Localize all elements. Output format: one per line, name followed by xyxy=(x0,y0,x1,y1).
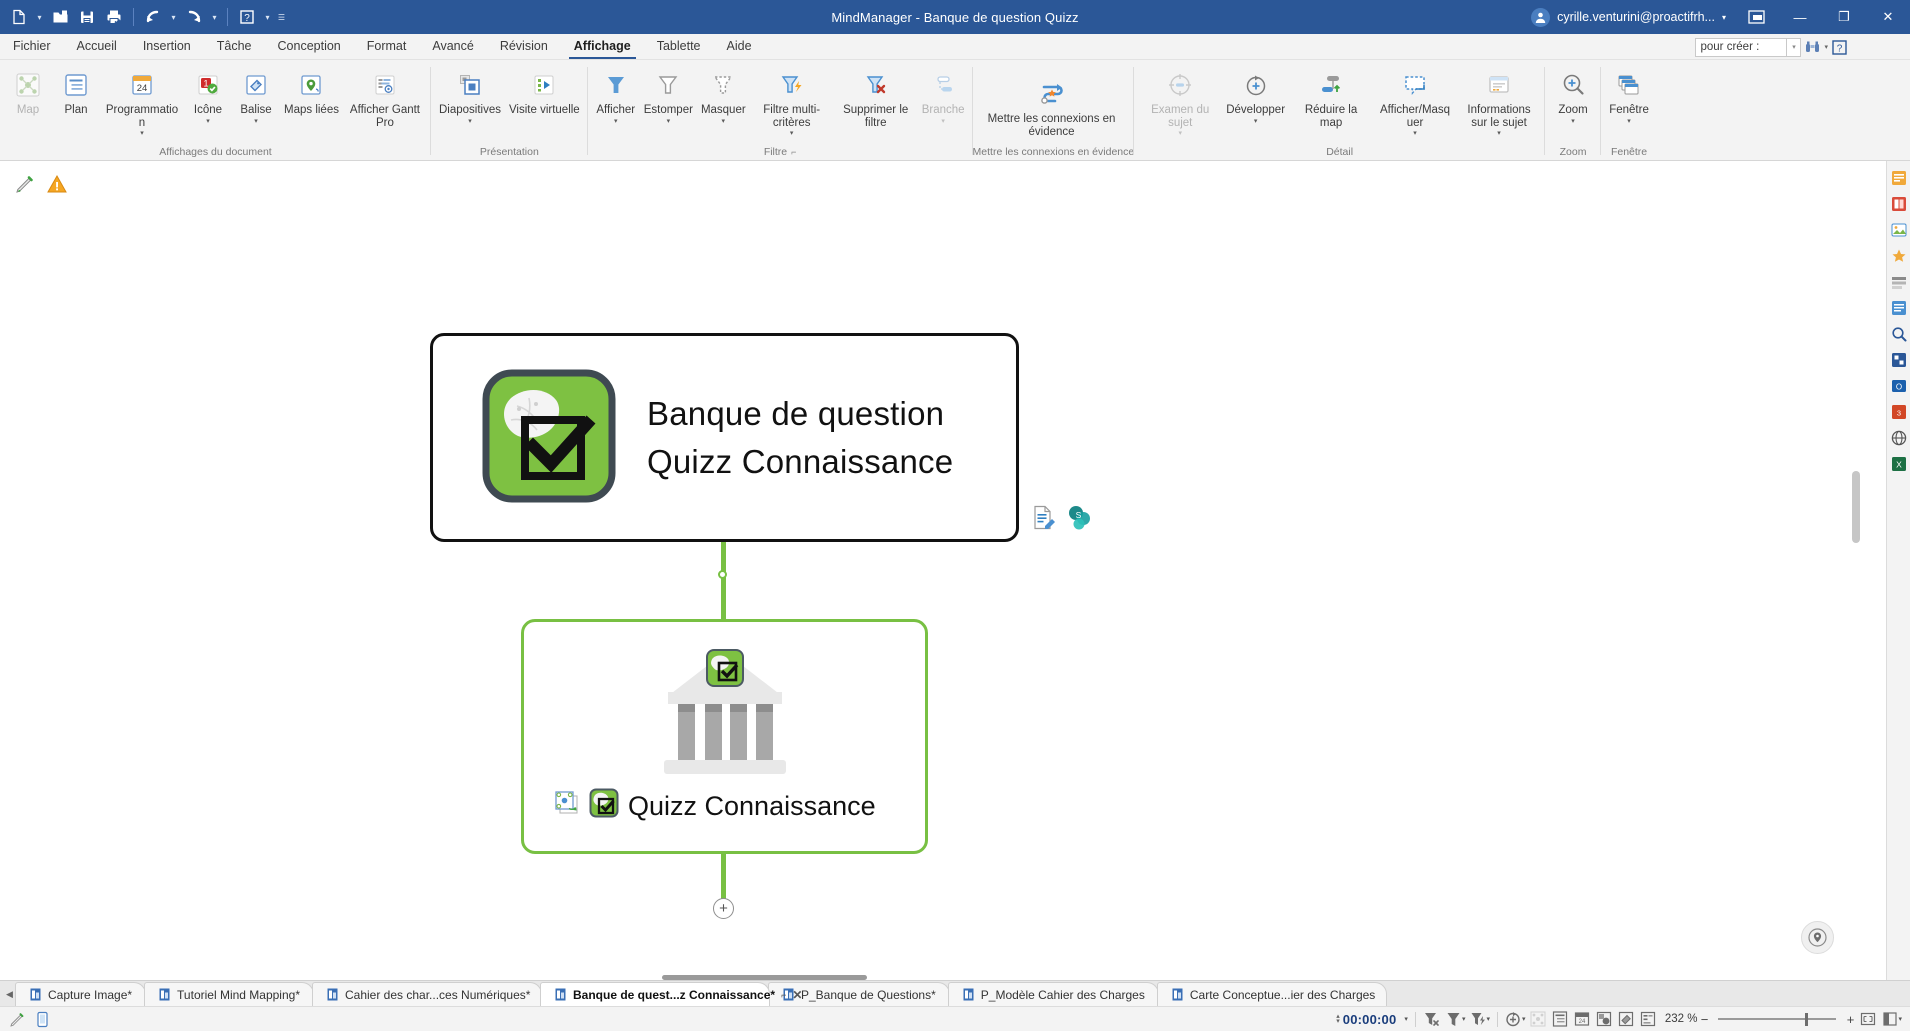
document-icon xyxy=(962,987,975,1002)
root-topic[interactable]: Banque de question Quizz Connaissance xyxy=(430,333,1019,542)
icon-marker-icon: 1 xyxy=(194,68,222,102)
ribbon-button-examen-du-sujet[interactable]: Examen du sujet ▾ xyxy=(1138,65,1222,139)
tab-revision[interactable]: Révision xyxy=(487,33,561,59)
outline-view-icon xyxy=(62,68,90,102)
ribbon-button-zoom-label: Zoom xyxy=(1558,104,1587,117)
root-topic-attachments: S xyxy=(1030,504,1093,534)
filter-status-caret-icon[interactable]: ▾ xyxy=(1462,1015,1466,1023)
tab-insertion[interactable]: Insertion xyxy=(130,33,204,59)
child-topic-quizz-connaissance[interactable]: Quizz Connaissance xyxy=(521,619,928,854)
tab-tache[interactable]: Tâche xyxy=(204,33,265,59)
document-icon xyxy=(158,987,171,1002)
ribbon-button-fenetre-label: Fenêtre xyxy=(1609,104,1649,117)
ribbon-button-maps-liees-label: Maps liées xyxy=(284,104,339,117)
ribbon-button-mettre-les-connexions-label: Mettre les connexions en évidence xyxy=(981,113,1123,138)
ribbon-group-label-fenetre: Fenêtre xyxy=(1601,144,1657,160)
collapse-map-icon xyxy=(1317,68,1345,102)
document-tab-label: P_Modèle Cahier des Charges xyxy=(981,988,1145,1002)
ribbon-button-branche-label: Branche xyxy=(922,104,965,117)
map-view-status-icon[interactable] xyxy=(1527,1009,1549,1030)
ribbon-button-balise[interactable]: Balise ▾ xyxy=(232,65,280,127)
filter-show-icon xyxy=(602,68,630,102)
slides-icon xyxy=(456,68,484,102)
connector-collapse-dot[interactable] xyxy=(718,570,727,579)
tablet-status-icon[interactable] xyxy=(31,1009,53,1030)
zoom-slider[interactable] xyxy=(1718,1012,1836,1026)
brain-checkbox-icon xyxy=(481,368,617,507)
ribbon-button-reduire-la-map-label: Réduire la map xyxy=(1293,104,1369,129)
ribbon-group-label-zoom: Zoom xyxy=(1545,144,1601,160)
pen-status-icon[interactable] xyxy=(6,1009,28,1030)
ribbon-button-programmation-label: Programmation xyxy=(104,104,180,129)
undo-icon[interactable] xyxy=(140,4,166,30)
ribbon-button-masquer-label: Masquer xyxy=(701,104,746,117)
highlight-connections-icon xyxy=(1035,77,1069,111)
document-tab-label: Banque de quest...z Connaissance* xyxy=(573,988,775,1002)
tag-icon xyxy=(242,68,270,102)
zoom-percent: 232 % xyxy=(1659,1013,1697,1025)
linked-maps-icon xyxy=(297,68,325,102)
ribbon-button-map-label: Map xyxy=(17,104,39,117)
ribbon-group-affichages-du-document: Map Plan 24 Programmation ▾ 1 Icône xyxy=(0,60,431,160)
vertical-scrollbar[interactable] xyxy=(1852,471,1860,543)
tags-panel-icon[interactable] xyxy=(1890,273,1908,291)
icon-view-status-icon[interactable] xyxy=(1593,1009,1615,1030)
branche-caret-icon[interactable]: ▾ xyxy=(941,117,945,127)
avatar xyxy=(1531,8,1550,27)
ribbon-button-afficher-filtre[interactable]: Afficher ▾ xyxy=(592,65,640,127)
quick-access-toolbar: ▾ ▾ ▾ ? ▾ ☰ xyxy=(0,4,288,30)
topic-info-icon xyxy=(1485,68,1513,102)
restore-button[interactable]: ❐ xyxy=(1822,0,1866,34)
document-tab-capture-image[interactable]: Capture Image* xyxy=(15,982,146,1006)
title-bar: ▾ ▾ ▾ ? ▾ ☰ MindManager - Banque de ques… xyxy=(0,0,1910,34)
svg-text:?: ? xyxy=(1836,43,1842,54)
help-question-icon[interactable]: ? xyxy=(1828,37,1850,57)
zoom-in-icon xyxy=(1559,68,1587,102)
ribbon-button-afficher-gantt-pro[interactable]: Afficher Gantt Pro xyxy=(343,65,427,129)
right-task-rail: O 3 X xyxy=(1886,161,1910,980)
print-icon[interactable] xyxy=(101,4,127,30)
ribbon-button-reduire-la-map[interactable]: Réduire la map xyxy=(1289,65,1373,129)
undo-caret-icon[interactable]: ▾ xyxy=(167,4,180,30)
location-pin-icon[interactable] xyxy=(1801,921,1834,954)
ribbon-button-diapositives-label: Diapositives xyxy=(439,104,501,117)
tab-tablette[interactable]: Tablette xyxy=(644,33,714,59)
o365-panel-icon[interactable]: 3 xyxy=(1890,403,1908,421)
smart-shapes-icon[interactable] xyxy=(1890,351,1908,369)
filter-clear-status-icon[interactable] xyxy=(1421,1009,1443,1030)
tab-conception[interactable]: Conception xyxy=(265,33,354,59)
document-tab-banque-de-question-quizz-connaissance[interactable]: Banque de quest...z Connaissance* ⌐ ✕ xyxy=(540,982,770,1006)
gantt-pro-icon xyxy=(371,68,399,102)
qat-separator-1 xyxy=(133,8,134,26)
tag-view-status-icon[interactable] xyxy=(1615,1009,1637,1030)
ribbon-tab-bar: Fichier Accueil Insertion Tâche Concepti… xyxy=(0,34,1910,60)
excel-panel-icon[interactable]: X xyxy=(1890,455,1908,473)
ribbon-button-developper-label: Développer xyxy=(1226,104,1285,117)
new-caret-icon[interactable]: ▾ xyxy=(33,4,46,30)
canvas-tool-strip xyxy=(14,173,68,198)
ribbon-button-afficher-masquer-label: Afficher/Masquer xyxy=(1377,104,1453,129)
tab-fichier[interactable]: Fichier xyxy=(0,33,64,59)
examen-du-sujet-caret-icon[interactable]: ▾ xyxy=(1178,129,1182,139)
estomper-caret-icon[interactable]: ▾ xyxy=(667,117,671,127)
open-folder-icon[interactable] xyxy=(47,4,73,30)
zoom-caret-icon[interactable]: ▾ xyxy=(1571,117,1575,127)
save-icon[interactable] xyxy=(74,4,100,30)
child-topic-label: Quizz Connaissance xyxy=(628,791,876,822)
ribbon-button-examen-du-sujet-label: Examen du sujet xyxy=(1142,104,1218,129)
icone-caret-icon[interactable]: ▾ xyxy=(206,117,210,127)
fenetre-caret-icon[interactable]: ▾ xyxy=(1627,117,1631,127)
svg-text:24: 24 xyxy=(137,83,148,94)
ribbon: Map Plan 24 Programmation ▾ 1 Icône xyxy=(0,60,1910,161)
ribbon-button-icone-label: Icône xyxy=(194,104,222,117)
document-tab-label: Capture Image* xyxy=(48,988,132,1002)
svg-text:3: 3 xyxy=(1896,409,1900,418)
filter-fade-icon xyxy=(654,68,682,102)
timer-spinner-icon[interactable]: ▴▾ xyxy=(1336,1014,1340,1024)
account-name: cyrille.venturini@proactifrh... xyxy=(1557,10,1715,24)
focus-status-caret-icon[interactable]: ▾ xyxy=(1522,1015,1526,1023)
document-tab-cahier-des-charges-numeriques[interactable]: Cahier des char...ces Numériques* xyxy=(312,982,542,1006)
session-timer: 00:00:00 xyxy=(1343,1012,1397,1027)
help-icon[interactable]: ? xyxy=(234,4,260,30)
ribbon-group-detail: Examen du sujet ▾ Développer ▾ Réduire l… xyxy=(1134,60,1545,160)
ribbon-button-informations-sur-le-sujet[interactable]: Informations sur le sujet ▾ xyxy=(1457,65,1541,139)
ribbon-button-masquer[interactable]: Masquer ▾ xyxy=(697,65,750,127)
document-icon xyxy=(554,987,567,1002)
ribbon-button-icone[interactable]: 1 Icône ▾ xyxy=(184,65,232,127)
ribbon-button-map[interactable]: Map xyxy=(4,65,52,117)
ribbon-button-developper[interactable]: Développer ▾ xyxy=(1222,65,1289,127)
fit-map-status-icon[interactable] xyxy=(1857,1009,1879,1030)
search-input[interactable] xyxy=(1695,38,1787,57)
help-caret-icon[interactable]: ▾ xyxy=(261,4,274,30)
zoom-slider-thumb[interactable] xyxy=(1805,1013,1809,1026)
ribbon-button-filtre-multi-criteres-label: Filtre multi-critères xyxy=(754,104,830,129)
tab-avance[interactable]: Avancé xyxy=(419,33,486,59)
document-tab-label: P_Banque de Questions* xyxy=(801,988,936,1002)
ribbon-group-fenetre: Fenêtre ▾ Fenêtre xyxy=(1601,60,1657,160)
ribbon-button-filtre-multi-criteres[interactable]: Filtre multi-critères ▾ xyxy=(750,65,834,139)
sharepoint-icon[interactable]: S xyxy=(1066,504,1093,534)
ribbon-button-mettre-les-connexions-en-evidence[interactable]: Mettre les connexions en évidence xyxy=(977,74,1127,138)
document-icon xyxy=(326,987,339,1002)
ribbon-button-supprimer-le-filtre[interactable]: Supprimer le filtre xyxy=(834,65,918,129)
connector-child-plus xyxy=(721,854,726,901)
afficher-filtre-caret-icon[interactable]: ▾ xyxy=(614,117,618,127)
calendar-24-icon: 24 xyxy=(128,68,156,102)
work-area: Banque de question Quizz Connaissance S xyxy=(0,161,1910,980)
masquer-caret-icon[interactable]: ▾ xyxy=(722,117,726,127)
notes-icon[interactable] xyxy=(1030,504,1057,534)
afficher-masquer-caret-icon[interactable]: ▾ xyxy=(1413,129,1417,139)
expand-icon xyxy=(1242,68,1270,102)
child-topic-label-row: Quizz Connaissance xyxy=(554,788,876,825)
document-tab-label: Cahier des char...ces Numériques* xyxy=(345,988,530,1002)
map-index-icon[interactable] xyxy=(1890,299,1908,317)
qat-separator-2 xyxy=(227,8,228,26)
ribbon-group-connexions: Mettre les connexions en évidence Mettre… xyxy=(973,60,1135,160)
root-topic-title-line1: Banque de question xyxy=(647,390,953,438)
ribbon-button-afficher-masquer[interactable]: Afficher/Masquer ▾ xyxy=(1373,65,1457,139)
topic-review-icon xyxy=(1166,68,1194,102)
filter-clear-icon xyxy=(862,68,890,102)
ribbon-group-label-presentation: Présentation xyxy=(431,144,588,160)
timer-caret-icon[interactable]: ▾ xyxy=(1404,1015,1408,1023)
ribbon-group-label-detail: Détail xyxy=(1134,144,1545,160)
task-pane-icon[interactable] xyxy=(1890,169,1908,187)
ribbon-button-informations-sur-le-sujet-label: Informations sur le sujet xyxy=(1461,104,1537,129)
redo-caret-icon[interactable]: ▾ xyxy=(208,4,221,30)
minimize-button[interactable]: — xyxy=(1778,0,1822,34)
search-panel-icon[interactable] xyxy=(1890,325,1908,343)
ribbon-button-zoom[interactable]: Zoom ▾ xyxy=(1549,65,1597,127)
filtre-multi-criteres-caret-icon[interactable]: ▾ xyxy=(790,129,794,139)
ribbon-button-afficher-filtre-label: Afficher xyxy=(596,104,635,117)
new-icon[interactable] xyxy=(6,4,32,30)
status-bar: ▴▾ 00:00:00 ▾ ▾ ▾ ▾ 24 xyxy=(0,1006,1910,1031)
svg-text:?: ? xyxy=(244,13,250,24)
power-filter-icon xyxy=(778,68,806,102)
ribbon-search-area: ▾ ▾ ? xyxy=(1695,37,1850,57)
bank-building-icon xyxy=(660,644,790,782)
binoculars-icon[interactable] xyxy=(1801,37,1823,57)
balise-caret-icon[interactable]: ▾ xyxy=(254,117,258,127)
svg-text:24: 24 xyxy=(1579,1019,1586,1025)
document-tab-bar: ◀ Capture Image* Tutoriel Mind Mapping* … xyxy=(0,980,1910,1006)
document-tab-p-modele-cahier-des-charges[interactable]: P_Modèle Cahier des Charges xyxy=(948,982,1159,1006)
ribbon-button-balise-label: Balise xyxy=(240,104,271,117)
show-hide-icon xyxy=(1401,68,1429,102)
document-icon xyxy=(1171,987,1184,1002)
window-icon xyxy=(1615,68,1643,102)
ribbon-button-estomper[interactable]: Estomper ▾ xyxy=(640,65,697,127)
qat-more-icon[interactable]: ☰ xyxy=(275,4,288,30)
ribbon-group-filtre: Afficher ▾ Estomper ▾ Masquer ▾ xyxy=(588,60,973,160)
account-caret-icon[interactable]: ▾ xyxy=(1722,13,1726,22)
ribbon-group-label-filtre: Filtre ⌐ xyxy=(588,144,973,160)
ribbon-group-label-affichages: Affichages du document xyxy=(0,144,431,160)
diapositives-caret-icon[interactable]: ▾ xyxy=(468,117,472,127)
redo-icon[interactable] xyxy=(181,4,207,30)
ribbon-button-branche[interactable]: Branche ▾ xyxy=(918,65,969,127)
status-bar-right: ▴▾ 00:00:00 ▾ ▾ ▾ ▾ 24 xyxy=(1336,1009,1904,1030)
document-tab-label: Tutoriel Mind Mapping* xyxy=(177,988,300,1002)
developper-caret-icon[interactable]: ▾ xyxy=(1254,117,1258,127)
doctabs-scroll-left-icon[interactable]: ◀ xyxy=(4,982,15,1006)
ribbon-button-supprimer-le-filtre-label: Supprimer le filtre xyxy=(838,104,914,129)
add-topic-button[interactable]: + xyxy=(713,898,734,919)
ribbon-button-visite-virtuelle[interactable]: Visite virtuelle xyxy=(505,65,584,117)
web-panel-icon[interactable] xyxy=(1890,429,1908,447)
schedule-view-status-icon[interactable] xyxy=(1637,1009,1659,1030)
ribbon-group-presentation: Diapositives ▾ Visite virtuelle Présenta… xyxy=(431,60,588,160)
titlebar-right: cyrille.venturini@proactifrh... ▾ — ❐ ✕ xyxy=(1523,0,1910,34)
outline-view-status-icon[interactable] xyxy=(1549,1009,1571,1030)
status-bar-left xyxy=(6,1009,53,1030)
document-tab-label: Carte Conceptue...ier des Charges xyxy=(1190,988,1375,1002)
ribbon-button-diapositives[interactable]: Diapositives ▾ xyxy=(435,65,505,127)
map-view-icon xyxy=(14,68,42,102)
tab-aide[interactable]: Aide xyxy=(714,33,765,59)
document-tab-carte-conceptuelle-cahier-des-charges[interactable]: Carte Conceptue...ier des Charges xyxy=(1157,982,1387,1006)
zoom-out-button[interactable]: − xyxy=(1697,1012,1711,1027)
informations-sur-le-sujet-caret-icon[interactable]: ▾ xyxy=(1497,129,1501,139)
filtre-dialog-launcher-icon[interactable]: ⌐ xyxy=(791,144,796,160)
document-tab-tutoriel-mind-mapping[interactable]: Tutoriel Mind Mapping* xyxy=(144,982,314,1006)
ribbon-display-options-button[interactable] xyxy=(1734,0,1778,34)
tab-affichage[interactable]: Affichage xyxy=(561,33,644,59)
horizontal-scrollbar[interactable] xyxy=(662,975,867,980)
ribbon-button-fenetre[interactable]: Fenêtre ▾ xyxy=(1605,65,1653,127)
svg-text:S: S xyxy=(1076,510,1082,520)
account-button[interactable]: cyrille.venturini@proactifrh... ▾ xyxy=(1523,8,1734,27)
programmation-caret-icon[interactable]: ▾ xyxy=(140,129,144,139)
power-filter-status-caret-icon[interactable]: ▾ xyxy=(1486,1015,1490,1023)
gantt-status-icon[interactable]: 24 xyxy=(1571,1009,1593,1030)
document-tab-restore-icon[interactable]: ⌐ xyxy=(781,990,786,1000)
document-icon xyxy=(29,987,42,1002)
root-topic-title-line2: Quizz Connaissance xyxy=(647,438,953,486)
search-dropdown-caret-icon[interactable]: ▾ xyxy=(1787,38,1801,57)
outlook-panel-icon[interactable]: O xyxy=(1890,377,1908,395)
status-separator-2 xyxy=(1497,1012,1498,1027)
ribbon-group-label-connexions: Mettre les connexions en évidence xyxy=(973,144,1135,160)
zoom-slider-track xyxy=(1718,1018,1836,1020)
ribbon-button-maps-liees[interactable]: Maps liées xyxy=(280,65,343,117)
warning-icon[interactable] xyxy=(46,173,68,198)
filter-hide-icon xyxy=(709,68,737,102)
pen-tool-icon[interactable] xyxy=(14,173,36,198)
ribbon-button-afficher-gantt-pro-label: Afficher Gantt Pro xyxy=(347,104,423,129)
linked-map-icon[interactable] xyxy=(554,790,580,823)
ribbon-button-programmation[interactable]: 24 Programmation ▾ xyxy=(100,65,184,139)
svg-text:O: O xyxy=(1895,383,1901,392)
connector-root-child xyxy=(721,542,726,622)
walkthrough-icon xyxy=(530,68,558,102)
image-library-icon[interactable] xyxy=(1890,221,1908,239)
document-tab-close-icon[interactable]: ✕ xyxy=(792,988,802,1002)
library-icon[interactable] xyxy=(1890,195,1908,213)
tab-accueil[interactable]: Accueil xyxy=(64,33,130,59)
ribbon-group-label-filtre-text: Filtre xyxy=(764,144,787,160)
root-topic-title: Banque de question Quizz Connaissance xyxy=(647,390,953,486)
status-separator-1 xyxy=(1415,1012,1416,1027)
ribbon-button-plan-label: Plan xyxy=(64,104,87,117)
ribbon-button-estomper-label: Estomper xyxy=(644,104,693,117)
close-button[interactable]: ✕ xyxy=(1866,0,1910,34)
branch-icon xyxy=(929,68,957,102)
ribbon-button-plan[interactable]: Plan xyxy=(52,65,100,117)
presentation-status-caret-icon[interactable]: ▾ xyxy=(1898,1015,1902,1023)
map-canvas[interactable]: Banque de question Quizz Connaissance S xyxy=(0,161,1886,980)
ribbon-button-visite-virtuelle-label: Visite virtuelle xyxy=(509,104,580,117)
ribbon-group-zoom: Zoom ▾ Zoom xyxy=(1545,60,1601,160)
zoom-in-button[interactable]: + xyxy=(1843,1012,1857,1027)
icons-panel-icon[interactable] xyxy=(1890,247,1908,265)
brain-checkbox-icon[interactable] xyxy=(589,788,619,825)
tab-format[interactable]: Format xyxy=(354,33,420,59)
svg-text:X: X xyxy=(1896,460,1902,470)
